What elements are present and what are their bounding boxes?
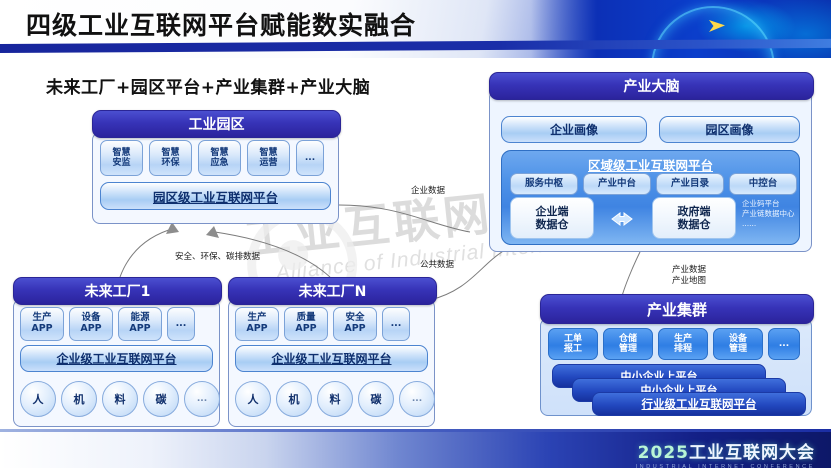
factory-1-app-energy[interactable]: 能源 APP (118, 307, 162, 341)
app-line2: APP (246, 324, 267, 335)
industry-data-line2: 产业地图 (672, 276, 706, 286)
factory-n-element-people[interactable]: 人 (235, 381, 271, 417)
chip-line1: 工单 (564, 334, 582, 344)
factory-n-element-more[interactable]: ... (399, 381, 435, 417)
app-line2: APP (129, 324, 150, 335)
park-chip-smart-operations[interactable]: 智慧 运营 (247, 140, 290, 176)
slide-root: 四级工业互联网平台赋能数实融合 未来工厂+园区平台+产业集群+产业大脑 工业互联… (0, 0, 831, 468)
app-line2: APP (80, 324, 101, 335)
factory-1-app-equipment[interactable]: 设备 APP (69, 307, 113, 341)
brain-chip-control-center[interactable]: 中控台 (729, 173, 797, 195)
conference-logo-sub: INDUSTRIAL INTERNET CONFERENCE (636, 464, 815, 468)
industry-data-line1: 产业数据 (672, 265, 706, 275)
factory-n-element-carbon[interactable]: 碳 (358, 381, 394, 417)
brain-park-portrait[interactable]: 园区画像 (659, 116, 800, 143)
cluster-chip-more[interactable]: ... (768, 328, 800, 360)
future-factory-1-box: 未来工厂1 生产 APP 设备 APP 能源 APP ... 企业级工业互联网平… (13, 277, 220, 425)
app-line2: APP (344, 324, 365, 335)
chip-line1: 生产 (674, 334, 692, 344)
factory-1-element-more[interactable]: ... (184, 381, 220, 417)
park-chip-smart-safety[interactable]: 智慧 安监 (100, 140, 143, 176)
connector-label-industry-data: 产业数据 产业地图 (672, 265, 706, 286)
brain-enterprise-portrait[interactable]: 企业画像 (501, 116, 647, 143)
cluster-chip-work-order[interactable]: 工单 报工 (548, 328, 598, 360)
page-subtitle: 未来工厂+园区平台+产业集群+产业大脑 (46, 73, 370, 98)
factory-n-title: 未来工厂N (228, 277, 437, 305)
factory-n-element-machine[interactable]: 机 (276, 381, 312, 417)
chip-line2: 应急 (210, 158, 228, 168)
regional-platform-box: 区域级工业互联网平台 服务中枢 产业中台 产业目录 中控台 企业端 数据仓 政府… (501, 150, 800, 245)
industrial-park-box: 工业园区 智慧 安监 智慧 环保 智慧 应急 智慧 运营 ... 园区级工业互联… (92, 110, 339, 222)
cluster-chip-production-schedule[interactable]: 生产 排程 (658, 328, 708, 360)
factory-n-element-material[interactable]: 料 (317, 381, 353, 417)
warehouse-line2: 数据仓 (678, 218, 711, 231)
chip-line2: 报工 (564, 344, 582, 354)
factory-n-app-row: 生产 APP 质量 APP 安全 APP ... (235, 307, 410, 341)
brain-chip-industry-midplatform[interactable]: 产业中台 (583, 173, 651, 195)
conference-logo-main: 2025工业互联网大会 (636, 438, 815, 463)
chip-line2: 运营 (259, 158, 277, 168)
enterprise-data-warehouse[interactable]: 企业端 数据仓 (510, 197, 594, 239)
government-data-warehouse[interactable]: 政府端 数据仓 (652, 197, 736, 239)
factory-1-element-machine[interactable]: 机 (61, 381, 97, 417)
brain-chip-service-hub[interactable]: 服务中枢 (510, 173, 578, 195)
factory-1-title: 未来工厂1 (13, 277, 222, 305)
connector-label-enterprise-data: 企业数据 (411, 186, 445, 197)
warehouse-line2: 数据仓 (536, 218, 569, 231)
cluster-chip-warehouse-mgmt[interactable]: 仓储 管理 (603, 328, 653, 360)
factory-1-platform-bar[interactable]: 企业级工业互联网平台 (20, 345, 213, 372)
industrial-park-title: 工业园区 (92, 110, 341, 138)
factory-1-app-production[interactable]: 生产 APP (20, 307, 64, 341)
chip-line1: 智慧 (161, 148, 179, 158)
connector-label-safety-env-carbon: 安全、环保、碳排数据 (175, 252, 260, 263)
industry-cluster-box: 产业集群 工单 报工 仓储 管理 生产 排程 设备 管理 ... 中小企业 (540, 294, 812, 414)
chip-line2: 排程 (674, 344, 692, 354)
app-line1: ... (391, 319, 402, 330)
cluster-bar-industry-platform[interactable]: 行业级工业互联网平台 (592, 392, 806, 416)
cluster-platform-stack: 中小企业上平台 中小企业上平台 行业级工业互联网平台 (540, 364, 812, 410)
side-note-3: ...... (742, 219, 798, 229)
industry-brain-box: 产业大脑 企业画像 园区画像 区域级工业互联网平台 服务中枢 产业中台 产业目录… (489, 72, 812, 252)
chip-line2: 环保 (161, 158, 179, 168)
factory-n-platform-bar[interactable]: 企业级工业互联网平台 (235, 345, 428, 372)
chip-line1: 智慧 (210, 148, 228, 158)
factory-n-app-safety[interactable]: 安全 APP (333, 307, 377, 341)
factory-n-app-quality[interactable]: 质量 APP (284, 307, 328, 341)
chip-line1: 仓储 (619, 334, 637, 344)
side-note-2: 产业链数据中心 (742, 209, 798, 219)
regional-platform-title: 区域级工业互联网平台 (502, 155, 799, 174)
cluster-chip-equipment-mgmt[interactable]: 设备 管理 (713, 328, 763, 360)
future-factory-n-box: 未来工厂N 生产 APP 质量 APP 安全 APP ... 企业级工业互联网平… (228, 277, 435, 425)
chip-line1: 智慧 (112, 148, 130, 158)
regional-service-row: 服务中枢 产业中台 产业目录 中控台 (510, 173, 797, 195)
factory-n-app-production[interactable]: 生产 APP (235, 307, 279, 341)
chip-line1: 设备 (729, 334, 747, 344)
chip-line1: ... (305, 153, 315, 163)
park-chip-smart-environment[interactable]: 智慧 环保 (149, 140, 192, 176)
cluster-title: 产业集群 (540, 294, 814, 324)
page-title: 四级工业互联网平台赋能数实融合 (26, 6, 416, 42)
factory-1-app-more[interactable]: ... (167, 307, 195, 341)
app-line1: ... (176, 319, 187, 330)
park-chip-smart-emergency[interactable]: 智慧 应急 (198, 140, 241, 176)
factory-n-app-more[interactable]: ... (382, 307, 410, 341)
conference-logo: 2025工业互联网大会 INDUSTRIAL INTERNET CONFEREN… (636, 438, 815, 468)
warehouse-line1: 政府端 (678, 205, 711, 218)
factory-1-app-row: 生产 APP 设备 APP 能源 APP ... (20, 307, 195, 341)
park-chip-more[interactable]: ... (296, 140, 324, 176)
conference-logo-name: 工业互联网大会 (689, 443, 815, 463)
double-arrow-icon (600, 211, 644, 227)
app-line2: APP (295, 324, 316, 335)
factory-1-element-carbon[interactable]: 碳 (143, 381, 179, 417)
conference-logo-year: 2025 (638, 443, 689, 463)
industrial-park-chip-row: 智慧 安监 智慧 环保 智慧 应急 智慧 运营 ... (100, 140, 324, 176)
chip-line1: ... (779, 339, 789, 349)
brain-side-notes: 企业码平台 产业链数据中心 ...... (742, 199, 798, 229)
chip-line2: 安监 (112, 158, 130, 168)
factory-n-element-row: 人 机 料 碳 ... (235, 381, 435, 417)
factory-1-element-material[interactable]: 料 (102, 381, 138, 417)
chip-line2: 管理 (619, 344, 637, 354)
brain-chip-industry-catalog[interactable]: 产业目录 (656, 173, 724, 195)
cluster-chip-row: 工单 报工 仓储 管理 生产 排程 设备 管理 ... (548, 328, 800, 360)
connector-label-public-data: 公共数据 (420, 260, 454, 271)
factory-1-element-row: 人 机 料 碳 ... (20, 381, 220, 417)
chip-line1: 智慧 (259, 148, 277, 158)
side-note-1: 企业码平台 (742, 199, 798, 209)
factory-1-element-people[interactable]: 人 (20, 381, 56, 417)
app-line2: APP (31, 324, 52, 335)
warehouse-line1: 企业端 (536, 205, 569, 218)
chip-line2: 管理 (729, 344, 747, 354)
park-platform-bar[interactable]: 园区级工业互联网平台 (100, 182, 331, 210)
industry-brain-title: 产业大脑 (489, 72, 814, 100)
